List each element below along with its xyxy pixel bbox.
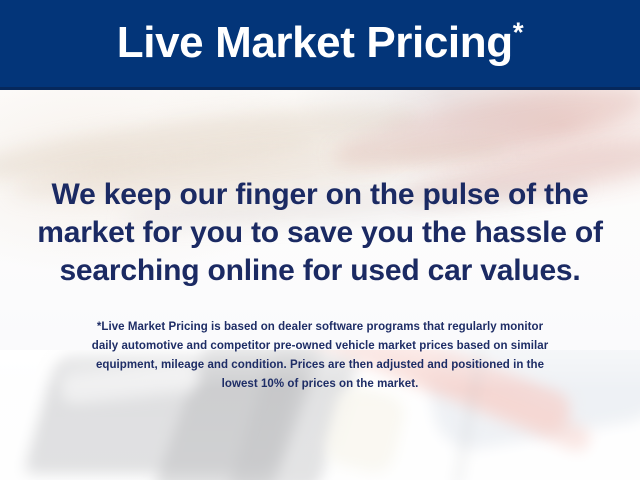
headline-line-1: We keep our finger on the pulse of the: [0, 176, 640, 214]
headline-copy: We keep our finger on the pulse of the m…: [0, 176, 640, 290]
disclaimer-line-4: lowest 10% of prices on the market.: [28, 375, 612, 394]
footnote-marker: *: [513, 16, 524, 47]
headline-line-2: market for you to save you the hassle of: [0, 214, 640, 252]
disclaimer-line-2: daily automotive and competitor pre-owne…: [28, 337, 612, 356]
header-band: Live Market Pricing*: [0, 0, 640, 90]
disclaimer-line-1: *Live Market Pricing is based on dealer …: [28, 318, 612, 337]
headline-line-3: searching online for used car values.: [0, 252, 640, 290]
live-market-pricing-banner: Live Market Pricing* We keep our finger …: [0, 0, 640, 480]
header-underline-rule: [0, 87, 640, 90]
disclaimer-text: *Live Market Pricing is based on dealer …: [28, 318, 612, 394]
page-title: Live Market Pricing*: [117, 21, 523, 69]
disclaimer-line-3: equipment, mileage and condition. Prices…: [28, 356, 612, 375]
page-title-text: Live Market Pricing: [117, 18, 513, 67]
